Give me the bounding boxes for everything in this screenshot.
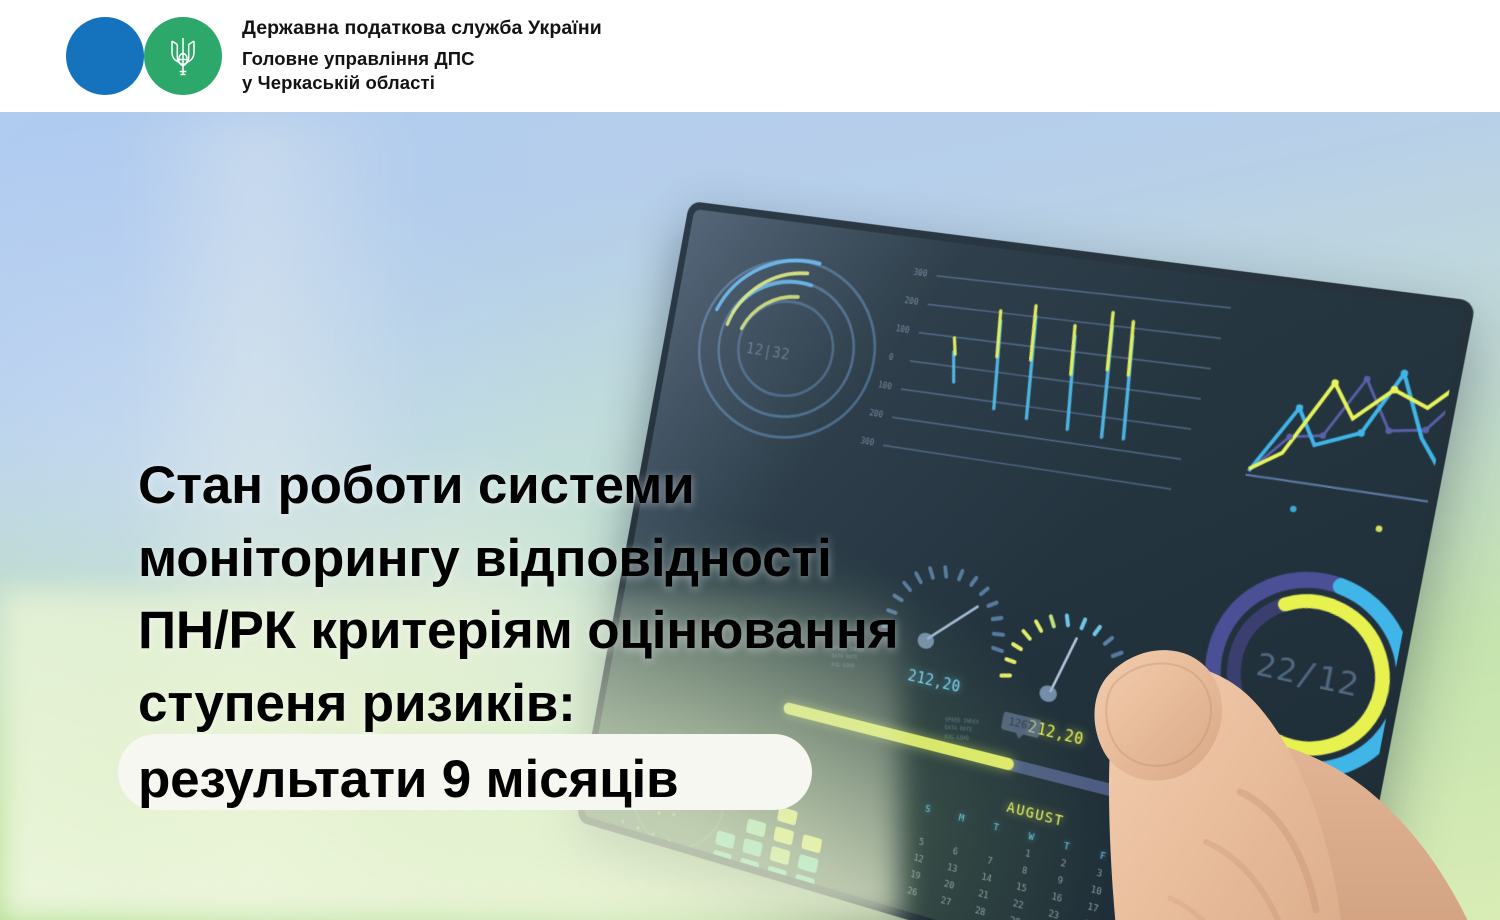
hand-holding-tablet <box>1010 512 1500 920</box>
hero-title: Стан роботи системи моніторингу відповід… <box>138 450 1058 817</box>
calendar-day[interactable]: 28 <box>962 902 998 920</box>
agency-name-region: у Черкаській області <box>242 71 602 96</box>
svg-text:200: 200 <box>869 408 884 420</box>
calendar-day[interactable]: 21 <box>965 886 1001 906</box>
title-line-1: Стан роботи системи <box>138 450 1058 523</box>
calendar-blank: . <box>907 817 942 836</box>
svg-text:0: 0 <box>888 352 894 362</box>
calendar-day[interactable]: 20 <box>931 876 967 896</box>
title-line-5: результати 9 місяців <box>138 744 1058 817</box>
agency-name-secondary: Головне управління ДПС <box>242 47 602 72</box>
title-highlight-row: результати 9 місяців <box>138 744 1058 817</box>
calendar-dow: T <box>978 818 1015 838</box>
svg-text:300: 300 <box>913 267 929 278</box>
logo-blue-circle <box>66 17 144 95</box>
svg-text:300: 300 <box>860 436 875 448</box>
svg-text:100: 100 <box>877 380 892 392</box>
svg-text:200: 200 <box>904 296 920 307</box>
agency-logo <box>66 17 222 95</box>
calendar-day[interactable]: 19 <box>898 866 933 885</box>
calendar-day[interactable]: 7 <box>971 852 1007 872</box>
title-line-2: моніторингу відповідності <box>138 523 1058 596</box>
banner-root: Державна податкова служба України Головн… <box>0 0 1500 920</box>
calendar-day[interactable]: 12 <box>901 850 936 869</box>
agency-name-block: Державна податкова служба України Головн… <box>242 16 602 96</box>
logo-green-circle <box>144 17 222 95</box>
calendar-day[interactable]: 14 <box>968 869 1004 889</box>
calendar-blank: . <box>975 835 1012 854</box>
site-header: Державна податкова служба України Головн… <box>0 0 1500 112</box>
calendar-blank: . <box>940 826 976 845</box>
tryzub-icon <box>166 35 200 77</box>
calendar-day[interactable]: 27 <box>928 892 964 912</box>
agency-name-primary: Державна податкова служба України <box>242 16 602 42</box>
svg-text:100: 100 <box>895 324 910 335</box>
hero-photo: 12|32 <box>0 112 1500 920</box>
calendar-day[interactable]: 13 <box>934 859 970 878</box>
title-line-3: ПН/РК критеріям оцінювання <box>138 595 1058 668</box>
line-series-yellow <box>1249 344 1466 533</box>
title-line-4: ступеня ризиків: <box>138 668 1058 741</box>
line-series-violet <box>1249 362 1466 531</box>
calendar-day[interactable]: 6 <box>937 843 973 862</box>
calendar-day[interactable]: 5 <box>904 833 939 852</box>
